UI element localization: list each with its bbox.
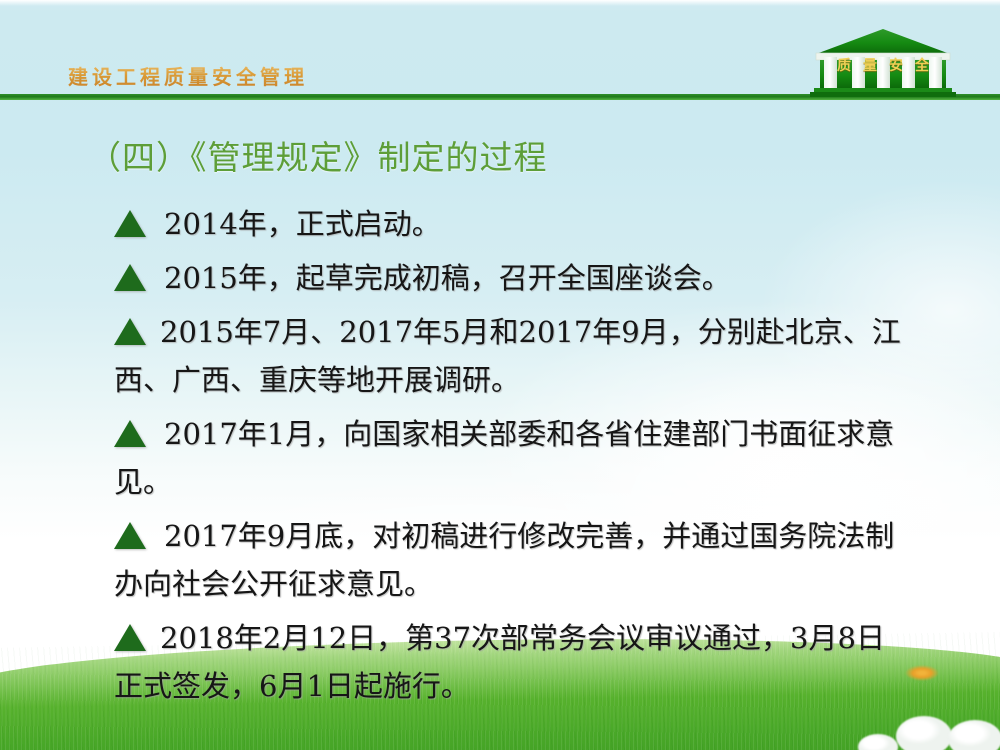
triangle-bullet-icon bbox=[114, 264, 146, 291]
course-title: 建设工程质量安全管理 bbox=[68, 61, 308, 90]
triangle-bullet-icon bbox=[114, 624, 146, 651]
list-item-text: 2017年9月底，对初稿进行修改完善，并通过国务院法制办向社会公开征求意见。 bbox=[114, 519, 894, 601]
list-item: 2014年，正式启动。 bbox=[114, 200, 904, 248]
sheep-decoration bbox=[896, 716, 952, 750]
triangle-bullet-icon bbox=[114, 522, 146, 549]
triangle-bullet-icon bbox=[114, 318, 146, 345]
page-title: （四）《管理规定》制定的过程 bbox=[88, 131, 548, 179]
list-item-text: 2015年，起草完成初稿，召开全国座谈会。 bbox=[164, 261, 731, 295]
triangle-bullet-icon bbox=[114, 210, 146, 237]
list-item: 2017年9月底，对初稿进行修改完善，并通过国务院法制办向社会公开征求意见。 bbox=[114, 512, 904, 608]
list-item-text: 2014年，正式启动。 bbox=[164, 207, 441, 241]
list-item-text: 2018年2月12日，第37次部常务会议审议通过，3月8日正式签发，6月1日起施… bbox=[114, 621, 885, 703]
bullet-list: 2014年，正式启动。 2015年，起草完成初稿，召开全国座谈会。 2015年7… bbox=[114, 200, 904, 716]
list-item-text: 2015年7月、2017年5月和2017年9月，分别赴北京、江西、广西、重庆等地… bbox=[114, 315, 901, 397]
temple-columns-icon: 质量安全 bbox=[808, 27, 958, 98]
list-item: 2015年7月、2017年5月和2017年9月，分别赴北京、江西、广西、重庆等地… bbox=[114, 308, 904, 404]
list-item: 2018年2月12日，第37次部常务会议审议通过，3月8日正式签发，6月1日起施… bbox=[114, 614, 904, 710]
list-item: 2017年1月，向国家相关部委和各省住建部门书面征求意见。 bbox=[114, 410, 904, 506]
presentation-slide: 建设工程质量安全管理 bbox=[0, 0, 1000, 750]
list-item-text: 2017年1月，向国家相关部委和各省住建部门书面征求意见。 bbox=[114, 417, 894, 499]
horizon-plant-decoration bbox=[905, 665, 939, 681]
triangle-bullet-icon bbox=[114, 420, 146, 447]
sheep-decoration bbox=[948, 720, 1000, 750]
list-item: 2015年，起草完成初稿，召开全国座谈会。 bbox=[114, 254, 904, 302]
